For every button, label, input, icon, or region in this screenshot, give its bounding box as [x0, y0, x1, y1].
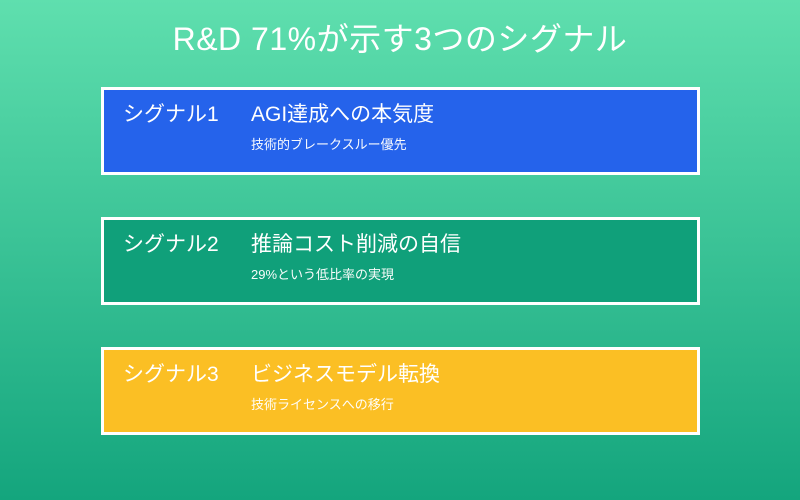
signal-card-2[interactable]: シグナル2 推論コスト削減の自信 29%という低比率の実現 [101, 217, 700, 305]
card-3-headline: ビジネスモデル転換 [251, 360, 440, 390]
card-1-main-row: シグナル1 AGI達成への本気度 [123, 98, 687, 132]
card-2-headline: 推論コスト削減の自信 [251, 230, 461, 260]
card-1-label: シグナル1 [123, 100, 251, 130]
page-title: R&D 71%が示す3つのシグナル [0, 19, 800, 59]
card-2-main-row: シグナル2 推論コスト削減の自信 [123, 228, 687, 262]
card-1-subtitle: 技術的ブレークスルー優先 [251, 136, 407, 154]
slide-canvas: R&D 71%が示す3つのシグナル シグナル1 AGI達成への本気度 技術的ブレ… [0, 0, 800, 500]
card-2-label: シグナル2 [123, 230, 251, 260]
signal-card-3[interactable]: シグナル3 ビジネスモデル転換 技術ライセンスへの移行 [101, 347, 700, 435]
card-2-subtitle: 29%という低比率の実現 [251, 266, 394, 284]
card-3-label: シグナル3 [123, 360, 251, 390]
signal-card-1[interactable]: シグナル1 AGI達成への本気度 技術的ブレークスルー優先 [101, 87, 700, 175]
card-3-subtitle: 技術ライセンスへの移行 [251, 396, 394, 414]
card-1-headline: AGI達成への本気度 [251, 100, 434, 130]
card-3-main-row: シグナル3 ビジネスモデル転換 [123, 358, 687, 392]
